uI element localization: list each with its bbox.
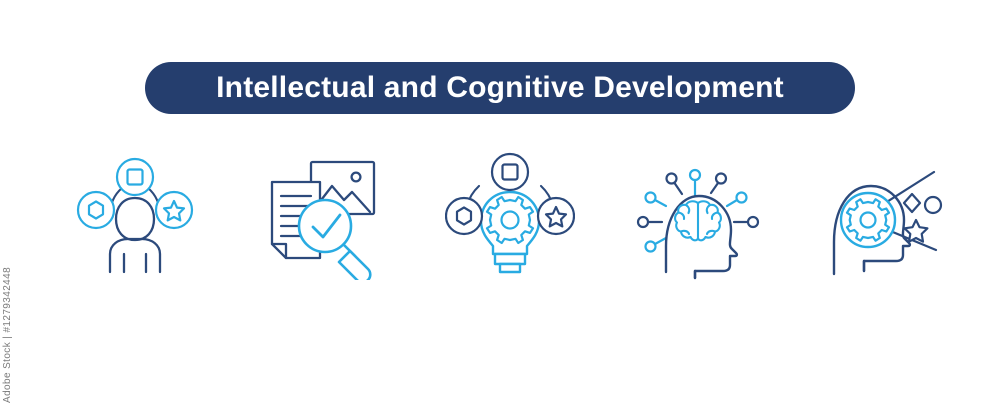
shape-diamond-icon <box>904 194 920 212</box>
page-title: Intellectual and Cognitive Development <box>216 71 784 105</box>
person-silhouette-icon <box>110 198 160 272</box>
person-with-skill-badges-icon[interactable] <box>60 140 210 290</box>
circle-badge-hexagon-icon <box>78 192 114 228</box>
head-gear-vision-shapes-icon[interactable] <box>810 140 960 290</box>
lightbulb-gear-ideas-icon[interactable] <box>435 140 585 290</box>
document-review-magnifier-icon[interactable] <box>248 140 398 290</box>
shape-circle-icon <box>925 197 941 213</box>
head-brain-network-icon[interactable] <box>623 140 773 290</box>
circle-badge-square-icon <box>117 159 153 195</box>
head-profile-icon <box>666 196 737 278</box>
watermark-text: Adobe Stock | #1279342448 <box>2 268 20 403</box>
icon-row <box>60 140 960 290</box>
title-banner: Intellectual and Cognitive Development <box>145 62 855 114</box>
circle-badge-hexagon-icon <box>446 198 482 234</box>
circle-badge-star-icon <box>538 198 574 234</box>
brain-icon <box>675 201 721 240</box>
circle-badge-star-icon <box>156 192 192 228</box>
circle-badge-square-icon <box>492 154 528 190</box>
